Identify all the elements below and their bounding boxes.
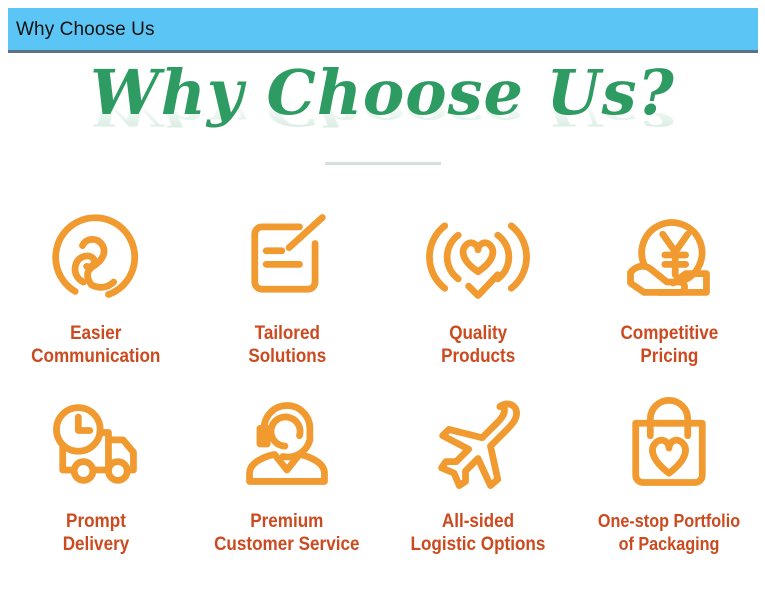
airplane-icon bbox=[426, 392, 530, 496]
feature-item-competitive-pricing[interactable]: Competitive Pricing bbox=[574, 204, 765, 368]
shopping-bag-heart-icon bbox=[617, 392, 721, 496]
ear-listening-icon bbox=[44, 204, 148, 308]
feature-item-prompt-delivery[interactable]: Prompt Delivery bbox=[0, 392, 191, 556]
truck-clock-icon bbox=[44, 392, 148, 496]
document-pencil-icon bbox=[235, 204, 339, 308]
feature-label: Easier Communication bbox=[31, 322, 160, 368]
heading-divider bbox=[325, 162, 441, 165]
headset-agent-icon bbox=[235, 392, 339, 496]
feature-label: Tailored Solutions bbox=[248, 322, 326, 368]
feature-item-one-stop-portfolio-of-packaging[interactable]: One-stop Portfolio of Packaging bbox=[574, 392, 765, 556]
feature-row-top: Easier Communication Tailored Solutions bbox=[0, 204, 765, 368]
hand-yen-coin-icon bbox=[617, 204, 721, 308]
feature-label: Quality Products bbox=[441, 322, 515, 368]
feature-item-premium-customer-service[interactable]: Premium Customer Service bbox=[191, 392, 382, 556]
feature-row-bottom: Prompt Delivery Premium Customer Service bbox=[0, 392, 765, 556]
window-title-text: Why Choose Us bbox=[8, 20, 155, 39]
heart-signal-check-icon bbox=[426, 204, 530, 308]
page-title: Why Choose Us? bbox=[0, 62, 765, 124]
feature-item-quality-products[interactable]: Quality Products bbox=[383, 204, 574, 368]
page-content: Why Choose Us? Why Choose Us? Easier Com… bbox=[0, 56, 765, 599]
window-titlebar: Why Choose Us bbox=[8, 8, 758, 53]
feature-item-all-sided-logistic-options[interactable]: All-sided Logistic Options bbox=[383, 392, 574, 556]
feature-item-easier-communication[interactable]: Easier Communication bbox=[0, 204, 191, 368]
feature-label: Competitive Pricing bbox=[620, 322, 718, 368]
feature-label: One-stop Portfolio of Packaging bbox=[598, 510, 740, 556]
feature-label: All-sided Logistic Options bbox=[411, 510, 546, 556]
heading-block: Why Choose Us? Why Choose Us? bbox=[0, 56, 765, 168]
feature-item-tailored-solutions[interactable]: Tailored Solutions bbox=[191, 204, 382, 368]
feature-label: Prompt Delivery bbox=[62, 510, 129, 556]
feature-label: Premium Customer Service bbox=[214, 510, 359, 556]
